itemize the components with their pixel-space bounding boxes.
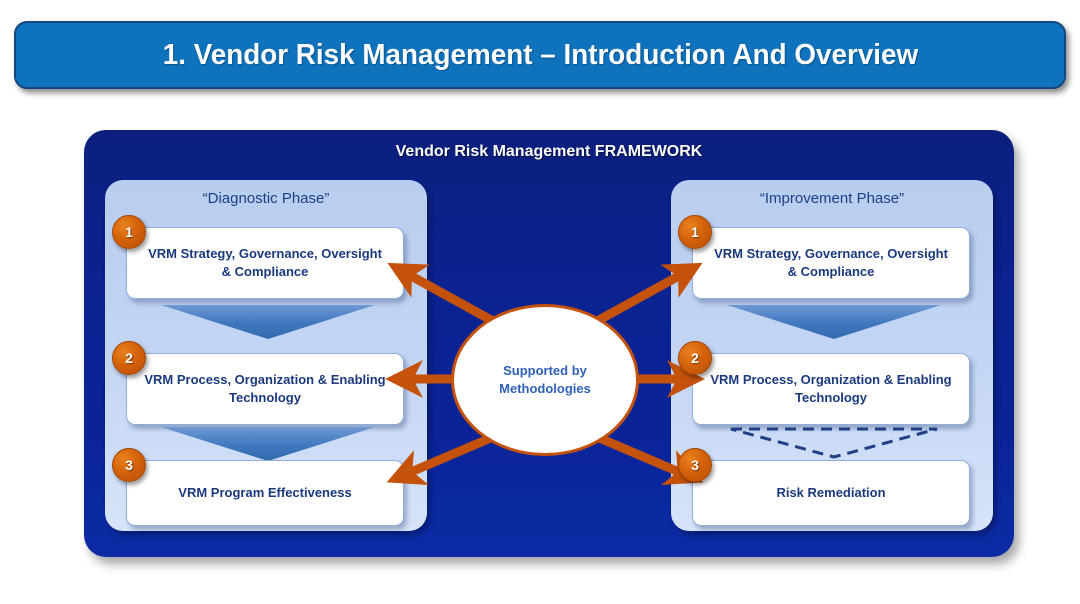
step-box-improvement-2[interactable]: VRM Process, Organization & Enabling Tec… <box>692 353 970 425</box>
page-title: 1. Vendor Risk Management – Introduction… <box>162 39 917 72</box>
step-badge-diagnostic-2: 2 <box>112 341 146 375</box>
chevron-improvement-1 <box>727 303 941 339</box>
page-title-bar: 1. Vendor Risk Management – Introduction… <box>14 21 1066 89</box>
step-badge-diagnostic-1: 1 <box>112 215 146 249</box>
step-label-improvement-1: VRM Strategy, Governance, Oversight& Com… <box>714 245 948 281</box>
chevron-diagnostic-2 <box>161 425 375 461</box>
chevron-diagnostic-1 <box>161 303 375 339</box>
step-label-improvement-2: VRM Process, Organization & Enabling Tec… <box>705 371 957 407</box>
phase-label-diagnostic: “Diagnostic Phase” <box>105 190 427 207</box>
chevron-improvement-2-dashed <box>727 425 941 461</box>
step-label-diagnostic-2: VRM Process, Organization & Enabling Tec… <box>139 371 391 407</box>
step-box-diagnostic-2[interactable]: VRM Process, Organization & Enabling Tec… <box>126 353 404 425</box>
step-label-improvement-3: Risk Remediation <box>776 484 885 502</box>
step-box-diagnostic-1[interactable]: VRM Strategy, Governance, Oversight& Com… <box>126 227 404 299</box>
step-badge-improvement-3: 3 <box>678 448 712 482</box>
step-badge-improvement-2: 2 <box>678 341 712 375</box>
step-box-improvement-3[interactable]: Risk Remediation <box>692 460 970 526</box>
step-box-improvement-1[interactable]: VRM Strategy, Governance, Oversight& Com… <box>692 227 970 299</box>
step-badge-improvement-1: 1 <box>678 215 712 249</box>
step-label-diagnostic-1: VRM Strategy, Governance, Oversight& Com… <box>148 245 382 281</box>
center-label: Supported by Methodologies <box>499 362 591 397</box>
center-label-line2: Methodologies <box>499 381 591 396</box>
step-badge-diagnostic-3: 3 <box>112 448 146 482</box>
step-label-diagnostic-3: VRM Program Effectiveness <box>178 484 351 502</box>
phase-label-improvement: “Improvement Phase” <box>671 190 993 207</box>
step-box-diagnostic-3[interactable]: VRM Program Effectiveness <box>126 460 404 526</box>
center-ellipse: Supported by Methodologies <box>451 304 639 456</box>
center-label-line1: Supported by <box>503 363 587 378</box>
framework-heading: Vendor Risk Management FRAMEWORK <box>84 143 1014 161</box>
phase-panel-improvement: “Improvement Phase” 1 VRM Strategy, Gove… <box>671 180 993 531</box>
phase-panel-diagnostic: “Diagnostic Phase” 1 VRM Strategy, Gover… <box>105 180 427 531</box>
